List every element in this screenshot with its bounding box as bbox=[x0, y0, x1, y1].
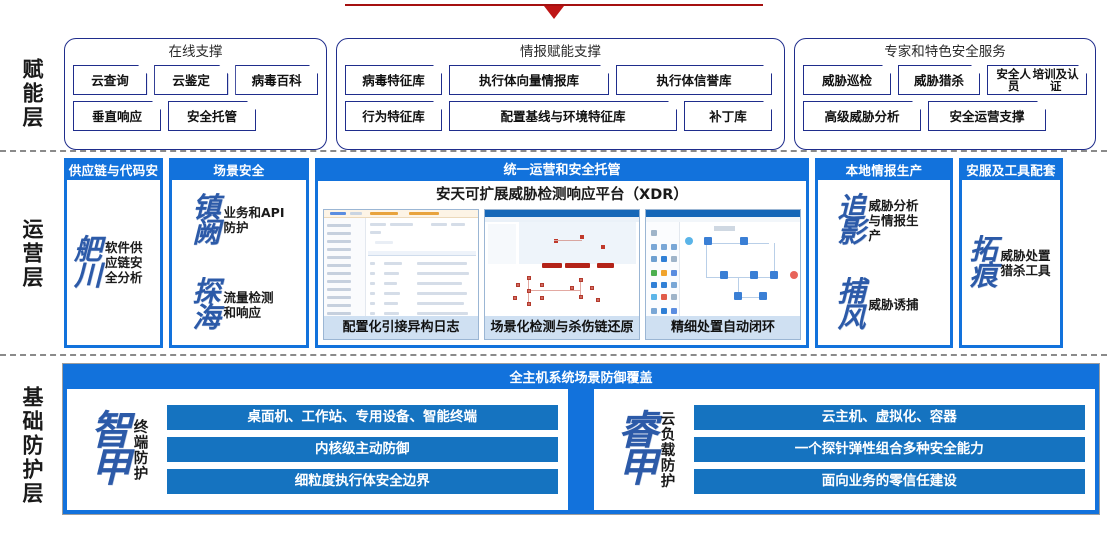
architecture-diagram: 赋能层 运营层 基础防护层 在线支撑 云查询 云鉴定 病毒百科 垂直响应 安全托… bbox=[0, 0, 1107, 535]
product-description: 软件供应链安全分析 bbox=[105, 240, 153, 285]
brand-block-zhijia: 智甲 终端防护 bbox=[77, 413, 151, 487]
chip-security-staff-training[interactable]: 安全人员培训及认证 bbox=[987, 65, 1087, 95]
product-cell-tanhai[interactable]: 探海 流量检测和响应 bbox=[172, 265, 306, 346]
panel-header: 供应链与代码安全 bbox=[67, 161, 160, 180]
chip-behavior-signature-db[interactable]: 行为特征库 bbox=[345, 101, 442, 131]
chip-threat-hunting[interactable]: 威胁猎杀 bbox=[898, 65, 980, 95]
panel-header: 场景安全 bbox=[172, 161, 306, 180]
chip-executable-vector-intel-db[interactable]: 执行体向量情报库 bbox=[449, 65, 609, 95]
layer-label-operations: 运营层 bbox=[6, 160, 58, 348]
panel-header: 本地情报生产 bbox=[818, 161, 950, 180]
ops-panel-xdr: 统一运营和安全托管 安天可扩展威胁检测响应平台（XDR） bbox=[315, 158, 809, 348]
chip-security-hosting[interactable]: 安全托管 bbox=[168, 101, 256, 131]
chip-config-baseline-env-db[interactable]: 配置基线与环境特征库 bbox=[449, 101, 677, 131]
chip-cloud-query[interactable]: 云查询 bbox=[73, 65, 147, 95]
xdr-card-auto-response[interactable]: 精细处置自动闭环 bbox=[645, 209, 801, 340]
feature-bar[interactable]: 云主机、虚拟化、容器 bbox=[694, 405, 1086, 430]
ops-panel-scenario-security: 场景安全 镇阙 业务和API防护 探海 流量检测和响应 bbox=[169, 158, 309, 348]
brand-tag: 终端防护 bbox=[132, 419, 147, 481]
product-cell-zhuiying[interactable]: 追影 威胁分析与情报生产 bbox=[818, 180, 950, 261]
brand-logo-tuohen: 拓痕 bbox=[969, 237, 996, 289]
chip-patch-db[interactable]: 补丁库 bbox=[684, 101, 772, 131]
feature-bar[interactable]: 内核级主动防御 bbox=[167, 437, 559, 462]
chip-virus-signature-db[interactable]: 病毒特征库 bbox=[345, 65, 442, 95]
brand-logo-tanhai: 探海 bbox=[192, 279, 219, 331]
feature-bar[interactable]: 细粒度执行体安全边界 bbox=[167, 469, 559, 494]
product-description: 业务和API防护 bbox=[224, 205, 286, 235]
brand-block-ruijia: 睿甲 云负载防护 bbox=[604, 411, 678, 489]
ops-panel-supply-chain: 供应链与代码安全 舥川 软件供应链安全分析 bbox=[64, 158, 163, 348]
ops-panel-local-intel: 本地情报生产 追影 威胁分析与情报生产 捕风 威胁诱捕 bbox=[815, 158, 953, 348]
brand-logo-fuchuan: 舥川 bbox=[74, 237, 101, 289]
layer-divider-2 bbox=[0, 354, 1107, 356]
foundation-header: 全主机系统场景防御覆盖 bbox=[67, 368, 1095, 389]
panel-header: 统一运营和安全托管 bbox=[318, 161, 806, 181]
card-caption: 精细处置自动闭环 bbox=[646, 316, 800, 339]
enablement-group-expert-services: 专家和特色安全服务 威胁巡检 威胁猎杀 安全人员培训及认证 高级威胁分析 安全运… bbox=[794, 38, 1096, 150]
chip-vertical-response[interactable]: 垂直响应 bbox=[73, 101, 161, 131]
brand-logo-bufeng: 捕风 bbox=[837, 279, 864, 331]
group-title: 专家和特色安全服务 bbox=[803, 43, 1087, 61]
chip-virus-encyclopedia[interactable]: 病毒百科 bbox=[235, 65, 318, 95]
enablement-layer: 在线支撑 云查询 云鉴定 病毒百科 垂直响应 安全托管 情报赋能支撑 病毒特征库… bbox=[64, 38, 1096, 150]
chip-cloud-identify[interactable]: 云鉴定 bbox=[154, 65, 228, 95]
brand-logo-zhenque: 镇阙 bbox=[192, 195, 219, 247]
workflow-editor-screenshot bbox=[646, 210, 800, 316]
enablement-group-intel-support: 情报赋能支撑 病毒特征库 执行体向量情报库 执行体信誉库 行为特征库 配置基线与… bbox=[336, 38, 785, 150]
card-caption: 配置化引接异构日志 bbox=[324, 316, 478, 339]
chip-threat-inspection[interactable]: 威胁巡检 bbox=[803, 65, 891, 95]
product-description: 威胁处置猎杀工具 bbox=[1001, 248, 1053, 278]
layer-label-enablement: 赋能层 bbox=[6, 42, 58, 146]
operations-layer: 供应链与代码安全 舥川 软件供应链安全分析 场景安全 镇阙 业务和API防护 探… bbox=[64, 158, 1063, 348]
foundation-column-cloud[interactable]: 睿甲 云负载防护 云主机、虚拟化、容器 一个探针弹性组合多种安全能力 面向业务的… bbox=[594, 389, 1095, 510]
foundation-column-endpoint[interactable]: 智甲 终端防护 桌面机、工作站、专用设备、智能终端 内核级主动防御 细粒度执行体… bbox=[67, 389, 568, 510]
group-title: 情报赋能支撑 bbox=[345, 43, 776, 61]
product-cell-zhenque[interactable]: 镇阙 业务和API防护 bbox=[172, 180, 306, 261]
feature-bar[interactable]: 一个探针弹性组合多种安全能力 bbox=[694, 437, 1086, 462]
product-cell-bufeng[interactable]: 捕风 威胁诱捕 bbox=[818, 265, 950, 346]
panel-header: 安服及工具配套 bbox=[962, 161, 1060, 180]
brand-tag: 云负载防护 bbox=[659, 411, 674, 489]
foundation-layer: 全主机系统场景防御覆盖 智甲 终端防护 桌面机、工作站、专用设备、智能终端 内核… bbox=[62, 363, 1100, 515]
xdr-platform-title: 安天可扩展威胁检测响应平台（XDR） bbox=[323, 185, 801, 206]
brand-logo-zhuiying: 追影 bbox=[837, 195, 864, 247]
layer-divider-1 bbox=[0, 150, 1107, 152]
feature-bar[interactable]: 桌面机、工作站、专用设备、智能终端 bbox=[167, 405, 559, 430]
layer-label-foundation: 基础防护层 bbox=[6, 366, 58, 526]
attack-graph-screenshot bbox=[485, 210, 639, 316]
product-cell-supply-chain[interactable]: 舥川 软件供应链安全分析 bbox=[67, 180, 160, 345]
card-caption: 场景化检测与杀伤链还原 bbox=[485, 316, 639, 339]
log-table-screenshot bbox=[324, 210, 478, 316]
arrow-head-icon bbox=[544, 6, 564, 19]
product-description: 流量检测和响应 bbox=[224, 290, 286, 320]
brand-logo-zhijia: 智甲 bbox=[91, 413, 130, 487]
ops-panel-tools: 安服及工具配套 拓痕 威胁处置猎杀工具 bbox=[959, 158, 1063, 348]
brand-logo-ruijia: 睿甲 bbox=[618, 413, 657, 487]
xdr-card-log-ingest[interactable]: 配置化引接异构日志 bbox=[323, 209, 479, 340]
chip-executable-reputation-db[interactable]: 执行体信誉库 bbox=[616, 65, 772, 95]
group-title: 在线支撑 bbox=[73, 43, 318, 61]
xdr-card-killchain[interactable]: 场景化检测与杀伤链还原 bbox=[484, 209, 640, 340]
product-description: 威胁诱捕 bbox=[869, 297, 931, 312]
enablement-group-online-support: 在线支撑 云查询 云鉴定 病毒百科 垂直响应 安全托管 bbox=[64, 38, 327, 150]
chip-advanced-threat-analysis[interactable]: 高级威胁分析 bbox=[803, 101, 921, 131]
feature-bar[interactable]: 面向业务的零信任建设 bbox=[694, 469, 1086, 494]
product-cell-tuohen[interactable]: 拓痕 威胁处置猎杀工具 bbox=[962, 180, 1060, 345]
chip-security-ops-support[interactable]: 安全运营支撑 bbox=[928, 101, 1046, 131]
product-description: 威胁分析与情报生产 bbox=[869, 198, 931, 243]
top-flow-arrow bbox=[345, 4, 763, 26]
